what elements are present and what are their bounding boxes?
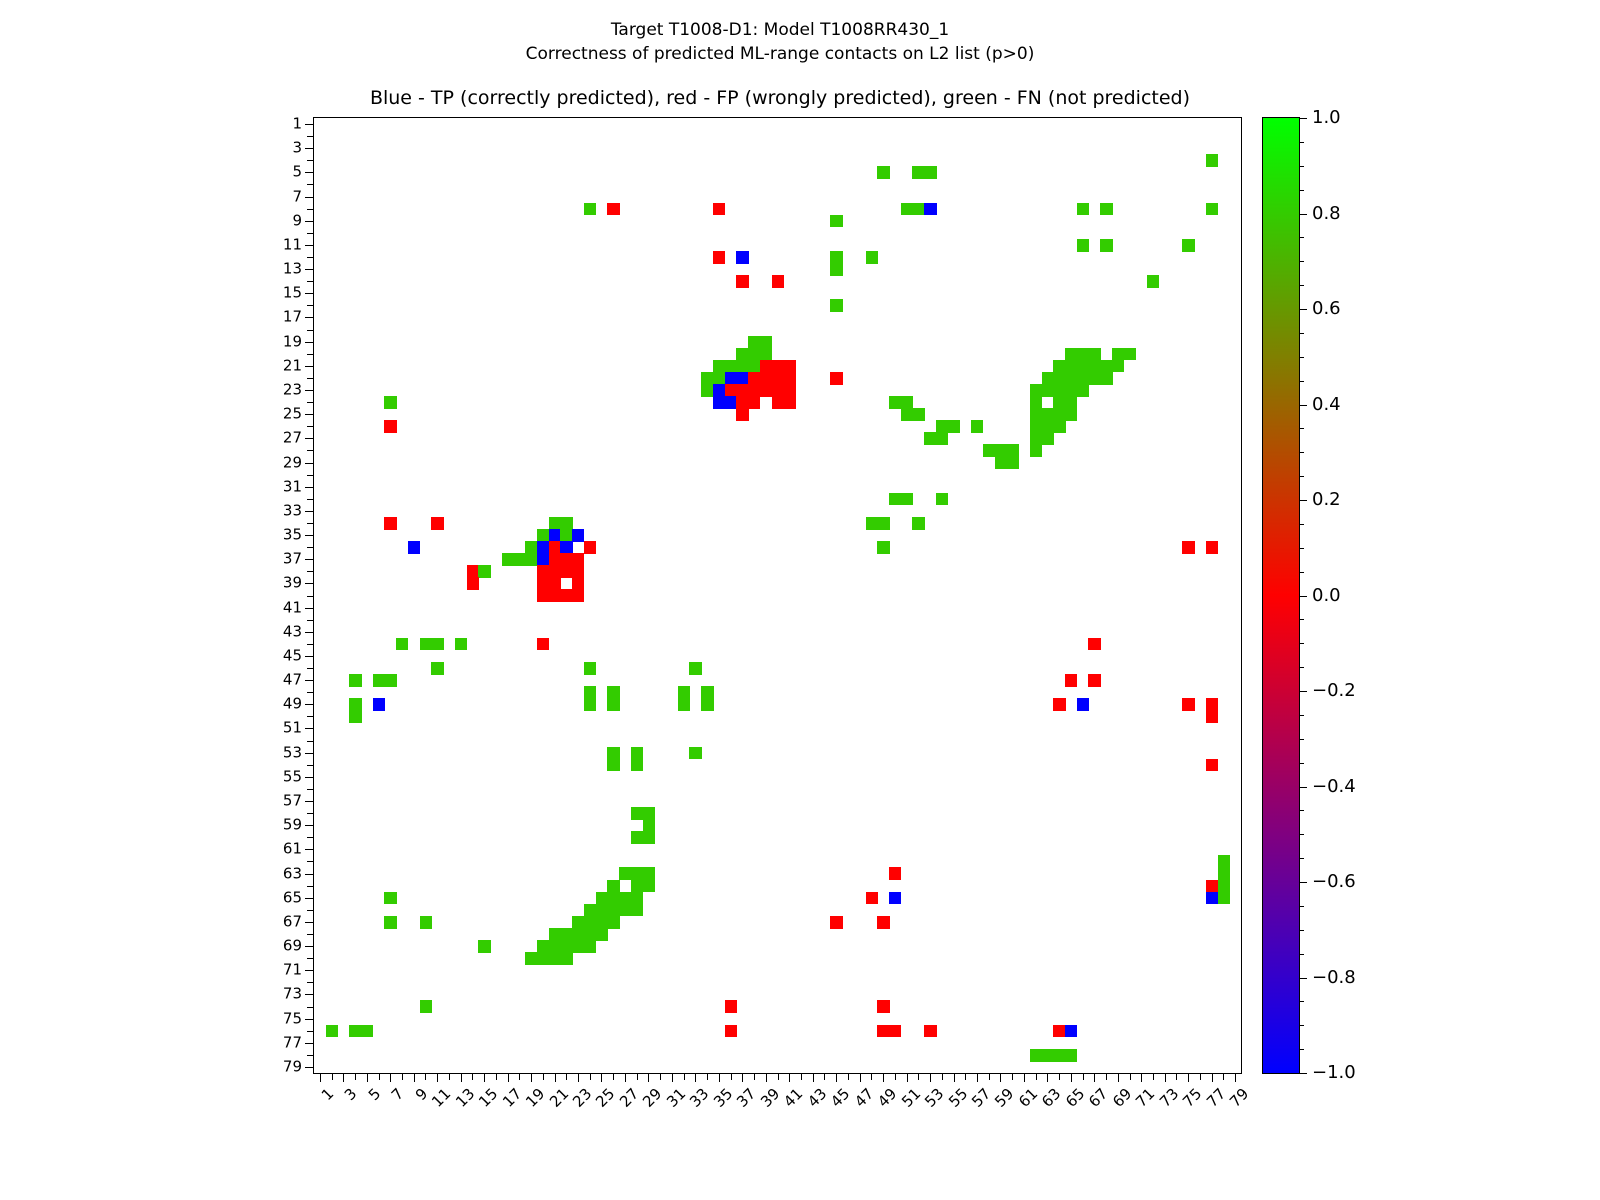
- x-tick-label: 77: [1204, 1086, 1228, 1110]
- y-tick: [305, 583, 314, 584]
- fn-cell: [1030, 432, 1042, 445]
- x-tick: [871, 1073, 872, 1080]
- x-tick: [625, 1073, 626, 1082]
- y-tick-label: 53: [262, 745, 302, 760]
- x-tick: [425, 1073, 426, 1080]
- fn-cell: [560, 529, 572, 542]
- fp-cell: [877, 1000, 889, 1013]
- tp-cell: [1077, 698, 1089, 711]
- y-tick-label: 65: [262, 890, 302, 905]
- fn-cell: [736, 360, 748, 373]
- fn-cell: [971, 420, 983, 433]
- x-tick-label: 45: [829, 1086, 853, 1110]
- x-tick-label: 57: [969, 1086, 993, 1110]
- tp-cell: [725, 396, 737, 409]
- y-tick: [307, 136, 314, 137]
- y-tick-label: 19: [262, 334, 302, 349]
- fn-cell: [701, 384, 713, 397]
- y-tick-label: 7: [262, 189, 302, 204]
- y-tick: [307, 378, 314, 379]
- fn-cell: [384, 674, 396, 687]
- fn-cell: [924, 166, 936, 179]
- fp-cell: [889, 867, 901, 880]
- fn-cell: [478, 565, 490, 578]
- y-tick: [305, 898, 314, 899]
- y-tick-label: 35: [262, 528, 302, 543]
- x-tick: [332, 1073, 333, 1080]
- y-tick: [305, 1043, 314, 1044]
- y-tick: [307, 499, 314, 500]
- x-tick-label: 53: [923, 1086, 947, 1110]
- fn-cell: [678, 698, 690, 711]
- fn-cell: [889, 396, 901, 409]
- x-tick-label: 27: [617, 1086, 641, 1110]
- fn-cell: [584, 928, 596, 941]
- fp-cell: [384, 420, 396, 433]
- fp-cell: [725, 1000, 737, 1013]
- x-tick: [707, 1073, 708, 1080]
- fn-cell: [1077, 384, 1089, 397]
- fn-cell: [1077, 203, 1089, 216]
- fn-cell: [631, 867, 643, 880]
- y-tick-label: 3: [262, 141, 302, 156]
- fn-cell: [1053, 420, 1065, 433]
- colorbar-tick: [1299, 954, 1304, 955]
- fp-cell: [1088, 638, 1100, 651]
- fn-cell: [584, 940, 596, 953]
- fn-cell: [901, 203, 913, 216]
- fp-cell: [1206, 710, 1218, 723]
- title-line-2: Correctness of predicted ML-range contac…: [0, 42, 1560, 66]
- tp-cell: [537, 553, 549, 566]
- fn-cell: [513, 553, 525, 566]
- fp-cell: [572, 565, 584, 578]
- fp-cell: [772, 360, 784, 373]
- x-tick: [719, 1073, 720, 1082]
- tp-cell: [549, 529, 561, 542]
- y-tick: [305, 632, 314, 633]
- colorbar-tick-label: 0.4: [1312, 396, 1341, 414]
- fp-cell: [560, 589, 572, 602]
- fn-cell: [736, 348, 748, 361]
- colorbar-tick: [1299, 452, 1304, 453]
- x-tick: [895, 1073, 896, 1080]
- fn-cell: [1053, 1049, 1065, 1062]
- colorbar-tick-label: −0.2: [1312, 682, 1356, 700]
- fn-cell: [1065, 372, 1077, 385]
- colorbar-major-tick: [1299, 500, 1307, 501]
- fn-cell: [1065, 348, 1077, 361]
- fp-cell: [584, 541, 596, 554]
- fn-cell: [619, 867, 631, 880]
- fn-cell: [1030, 396, 1042, 409]
- fn-cell: [560, 928, 572, 941]
- colorbar-tick-label: 0.6: [1312, 300, 1341, 318]
- fp-cell: [748, 372, 760, 385]
- colorbar-major-tick: [1299, 596, 1307, 597]
- x-tick-label: 61: [1016, 1086, 1040, 1110]
- fp-cell: [783, 384, 795, 397]
- fn-cell: [748, 336, 760, 349]
- y-tick: [305, 559, 314, 560]
- colorbar-tick-label: −0.8: [1312, 969, 1356, 987]
- colorbar-tick: [1299, 285, 1304, 286]
- fn-cell: [631, 759, 643, 772]
- fn-cell: [431, 638, 443, 651]
- x-tick: [461, 1073, 462, 1082]
- y-tick-label: 21: [262, 358, 302, 373]
- fn-cell: [701, 686, 713, 699]
- fn-cell: [1100, 372, 1112, 385]
- fn-cell: [1088, 372, 1100, 385]
- fp-cell: [1065, 674, 1077, 687]
- y-tick-label: 25: [262, 407, 302, 422]
- y-tick: [305, 317, 314, 318]
- y-tick: [305, 704, 314, 705]
- x-tick-label: 1: [319, 1086, 336, 1103]
- y-tick: [307, 861, 314, 862]
- fp-cell: [772, 396, 784, 409]
- fp-cell: [736, 275, 748, 288]
- y-tick-label: 51: [262, 721, 302, 736]
- x-tick: [907, 1073, 908, 1082]
- x-tick-label: 73: [1157, 1086, 1181, 1110]
- fn-cell: [584, 203, 596, 216]
- chart-title: Target T1008-D1: Model T1008RR430_1 Corr…: [0, 18, 1560, 66]
- fp-cell: [877, 916, 889, 929]
- x-tick: [367, 1073, 368, 1082]
- y-tick-label: 45: [262, 648, 302, 663]
- y-tick-label: 17: [262, 310, 302, 325]
- colorbar-tick-label: 0.2: [1312, 491, 1341, 509]
- y-tick: [307, 547, 314, 548]
- fn-cell: [1206, 154, 1218, 167]
- fn-cell: [502, 553, 514, 566]
- x-tick: [1235, 1073, 1236, 1082]
- y-tick-label: 41: [262, 600, 302, 615]
- fp-cell: [830, 916, 842, 929]
- fn-cell: [1147, 275, 1159, 288]
- fp-cell: [1206, 759, 1218, 772]
- x-tick-label: 41: [782, 1086, 806, 1110]
- fn-cell: [1053, 384, 1065, 397]
- colorbar-major-tick: [1299, 882, 1307, 883]
- x-tick-label: 17: [500, 1086, 524, 1110]
- fn-cell: [995, 444, 1007, 457]
- fp-cell: [467, 565, 479, 578]
- tp-cell: [560, 541, 572, 554]
- fp-cell: [572, 577, 584, 590]
- y-tick: [305, 777, 314, 778]
- x-tick-label: 7: [390, 1086, 407, 1103]
- y-tick-label: 55: [262, 769, 302, 784]
- fn-cell: [1065, 396, 1077, 409]
- fn-cell: [1053, 372, 1065, 385]
- y-tick: [305, 874, 314, 875]
- colorbar-major-tick: [1299, 978, 1307, 979]
- fn-cell: [631, 807, 643, 820]
- y-tick-label: 27: [262, 431, 302, 446]
- x-tick: [1223, 1073, 1224, 1080]
- colorbar-tick: [1299, 548, 1304, 549]
- y-tick-label: 59: [262, 818, 302, 833]
- fn-cell: [525, 952, 537, 965]
- fp-cell: [877, 1025, 889, 1038]
- tp-cell: [572, 529, 584, 542]
- fp-cell: [549, 553, 561, 566]
- fn-cell: [1218, 867, 1230, 880]
- fn-cell: [607, 686, 619, 699]
- x-tick-label: 5: [366, 1086, 383, 1103]
- fp-cell: [889, 1025, 901, 1038]
- x-tick: [613, 1073, 614, 1080]
- fn-cell: [1218, 880, 1230, 893]
- y-tick: [305, 753, 314, 754]
- fn-cell: [537, 529, 549, 542]
- y-tick: [307, 765, 314, 766]
- fn-cell: [619, 892, 631, 905]
- y-tick: [307, 789, 314, 790]
- fp-cell: [760, 384, 772, 397]
- x-tick: [1200, 1073, 1201, 1080]
- y-tick: [307, 402, 314, 403]
- y-tick: [307, 644, 314, 645]
- x-tick: [695, 1073, 696, 1082]
- y-tick-label: 43: [262, 624, 302, 639]
- x-tick: [754, 1073, 755, 1080]
- colorbar-tick: [1299, 428, 1304, 429]
- tp-cell: [725, 372, 737, 385]
- y-tick: [305, 970, 314, 971]
- x-tick: [320, 1073, 321, 1082]
- x-tick: [555, 1073, 556, 1082]
- colorbar-major-tick: [1299, 118, 1307, 119]
- x-tick: [379, 1073, 380, 1080]
- y-tick: [305, 245, 314, 246]
- colorbar-tick: [1299, 643, 1304, 644]
- y-tick-label: 5: [262, 165, 302, 180]
- fn-cell: [760, 336, 772, 349]
- fn-cell: [349, 698, 361, 711]
- y-tick: [307, 716, 314, 717]
- fn-cell: [607, 904, 619, 917]
- fn-cell: [455, 638, 467, 651]
- fn-cell: [936, 432, 948, 445]
- fn-cell: [525, 541, 537, 554]
- x-tick: [742, 1073, 743, 1082]
- title-line-1: Target T1008-D1: Model T1008RR430_1: [0, 18, 1560, 42]
- x-tick: [637, 1073, 638, 1080]
- fp-cell: [924, 1025, 936, 1038]
- tp-cell: [736, 251, 748, 264]
- fp-cell: [1182, 698, 1194, 711]
- y-tick-label: 61: [262, 842, 302, 857]
- y-tick-label: 75: [262, 1011, 302, 1026]
- x-tick: [402, 1073, 403, 1080]
- y-tick-label: 33: [262, 503, 302, 518]
- y-tick: [305, 148, 314, 149]
- fn-cell: [584, 916, 596, 929]
- fn-cell: [1112, 348, 1124, 361]
- y-tick: [305, 825, 314, 826]
- x-tick: [496, 1073, 497, 1080]
- y-tick: [305, 438, 314, 439]
- y-tick: [307, 1055, 314, 1056]
- fn-cell: [912, 408, 924, 421]
- y-tick: [305, 1067, 314, 1068]
- fp-cell: [560, 565, 572, 578]
- x-tick-label: 39: [758, 1086, 782, 1110]
- x-tick: [519, 1073, 520, 1080]
- y-tick: [307, 281, 314, 282]
- fn-cell: [866, 517, 878, 530]
- x-tick-label: 25: [594, 1086, 618, 1110]
- fn-cell: [478, 940, 490, 953]
- fn-cell: [1077, 239, 1089, 252]
- y-tick: [307, 668, 314, 669]
- fn-cell: [549, 952, 561, 965]
- colorbar-tick-label: 0.0: [1312, 587, 1341, 605]
- fp-cell: [760, 360, 772, 373]
- fn-cell: [572, 916, 584, 929]
- fp-cell: [760, 372, 772, 385]
- y-tick: [305, 390, 314, 391]
- fn-cell: [901, 408, 913, 421]
- fn-cell: [584, 904, 596, 917]
- y-tick: [307, 1031, 314, 1032]
- x-tick-label: 75: [1181, 1086, 1205, 1110]
- fn-cell: [607, 892, 619, 905]
- fn-cell: [596, 892, 608, 905]
- fn-cell: [1042, 384, 1054, 397]
- x-tick: [531, 1073, 532, 1082]
- fn-cell: [631, 904, 643, 917]
- fn-cell: [830, 299, 842, 312]
- fp-cell: [549, 541, 561, 554]
- x-tick: [648, 1073, 649, 1082]
- y-tick: [305, 293, 314, 294]
- x-tick-label: 71: [1134, 1086, 1158, 1110]
- x-tick: [1071, 1073, 1072, 1082]
- fn-cell: [420, 638, 432, 651]
- fp-cell: [725, 384, 737, 397]
- x-tick: [578, 1073, 579, 1082]
- fn-cell: [689, 662, 701, 675]
- x-tick: [778, 1073, 779, 1080]
- y-tick: [307, 934, 314, 935]
- y-tick: [307, 330, 314, 331]
- x-tick: [1047, 1073, 1048, 1082]
- fp-cell: [1088, 674, 1100, 687]
- fn-cell: [866, 251, 878, 264]
- x-tick-label: 23: [571, 1086, 595, 1110]
- x-tick: [343, 1073, 344, 1082]
- fn-cell: [1042, 432, 1054, 445]
- y-tick: [305, 366, 314, 367]
- fn-cell: [830, 263, 842, 276]
- y-tick: [305, 221, 314, 222]
- fp-cell: [384, 517, 396, 530]
- colorbar-tick-label: 1.0: [1312, 109, 1341, 127]
- colorbar-tick: [1299, 237, 1304, 238]
- x-tick: [472, 1073, 473, 1080]
- fn-cell: [631, 831, 643, 844]
- colorbar-tick: [1299, 381, 1304, 382]
- fp-cell: [736, 408, 748, 421]
- fn-cell: [607, 747, 619, 760]
- x-tick: [543, 1073, 544, 1080]
- colorbar-major-tick: [1299, 309, 1307, 310]
- y-tick: [305, 922, 314, 923]
- fn-cell: [995, 456, 1007, 469]
- fp-cell: [748, 384, 760, 397]
- y-tick: [305, 728, 314, 729]
- y-tick-label: 9: [262, 213, 302, 228]
- y-tick: [307, 571, 314, 572]
- x-tick-label: 29: [641, 1086, 665, 1110]
- x-tick: [766, 1073, 767, 1082]
- fp-cell: [537, 589, 549, 602]
- x-tick: [942, 1073, 943, 1080]
- colorbar-major-tick: [1299, 1073, 1307, 1074]
- fn-cell: [1182, 239, 1194, 252]
- fn-cell: [643, 831, 655, 844]
- y-tick: [307, 1007, 314, 1008]
- fn-cell: [420, 916, 432, 929]
- fn-cell: [1065, 1049, 1077, 1062]
- y-tick: [307, 958, 314, 959]
- tp-cell: [713, 384, 725, 397]
- x-tick: [883, 1073, 884, 1082]
- x-tick-label: 67: [1087, 1086, 1111, 1110]
- x-tick: [860, 1073, 861, 1082]
- y-tick: [307, 910, 314, 911]
- x-tick-label: 43: [805, 1086, 829, 1110]
- x-tick: [1036, 1073, 1037, 1080]
- fp-cell: [607, 203, 619, 216]
- tp-cell: [373, 698, 385, 711]
- fn-cell: [584, 686, 596, 699]
- fp-cell: [549, 589, 561, 602]
- tp-cell: [924, 203, 936, 216]
- fn-cell: [1006, 456, 1018, 469]
- y-tick: [305, 994, 314, 995]
- x-tick-label: 65: [1063, 1086, 1087, 1110]
- colorbar-tick: [1299, 1001, 1304, 1002]
- y-tick-label: 1: [262, 117, 302, 132]
- x-tick: [789, 1073, 790, 1082]
- x-tick: [1118, 1073, 1119, 1082]
- x-tick-label: 15: [477, 1086, 501, 1110]
- y-tick: [307, 233, 314, 234]
- fn-cell: [431, 662, 443, 675]
- y-tick: [307, 620, 314, 621]
- fn-cell: [1077, 360, 1089, 373]
- y-tick-label: 39: [262, 576, 302, 591]
- x-tick: [1012, 1073, 1013, 1080]
- y-tick-label: 29: [262, 455, 302, 470]
- fn-cell: [678, 686, 690, 699]
- x-tick: [1153, 1073, 1154, 1080]
- fp-cell: [748, 396, 760, 409]
- x-tick: [977, 1073, 978, 1082]
- y-tick: [305, 269, 314, 270]
- tp-cell: [537, 541, 549, 554]
- fn-cell: [384, 892, 396, 905]
- x-tick: [930, 1073, 931, 1082]
- fn-cell: [889, 493, 901, 506]
- colorbar-major-tick: [1299, 405, 1307, 406]
